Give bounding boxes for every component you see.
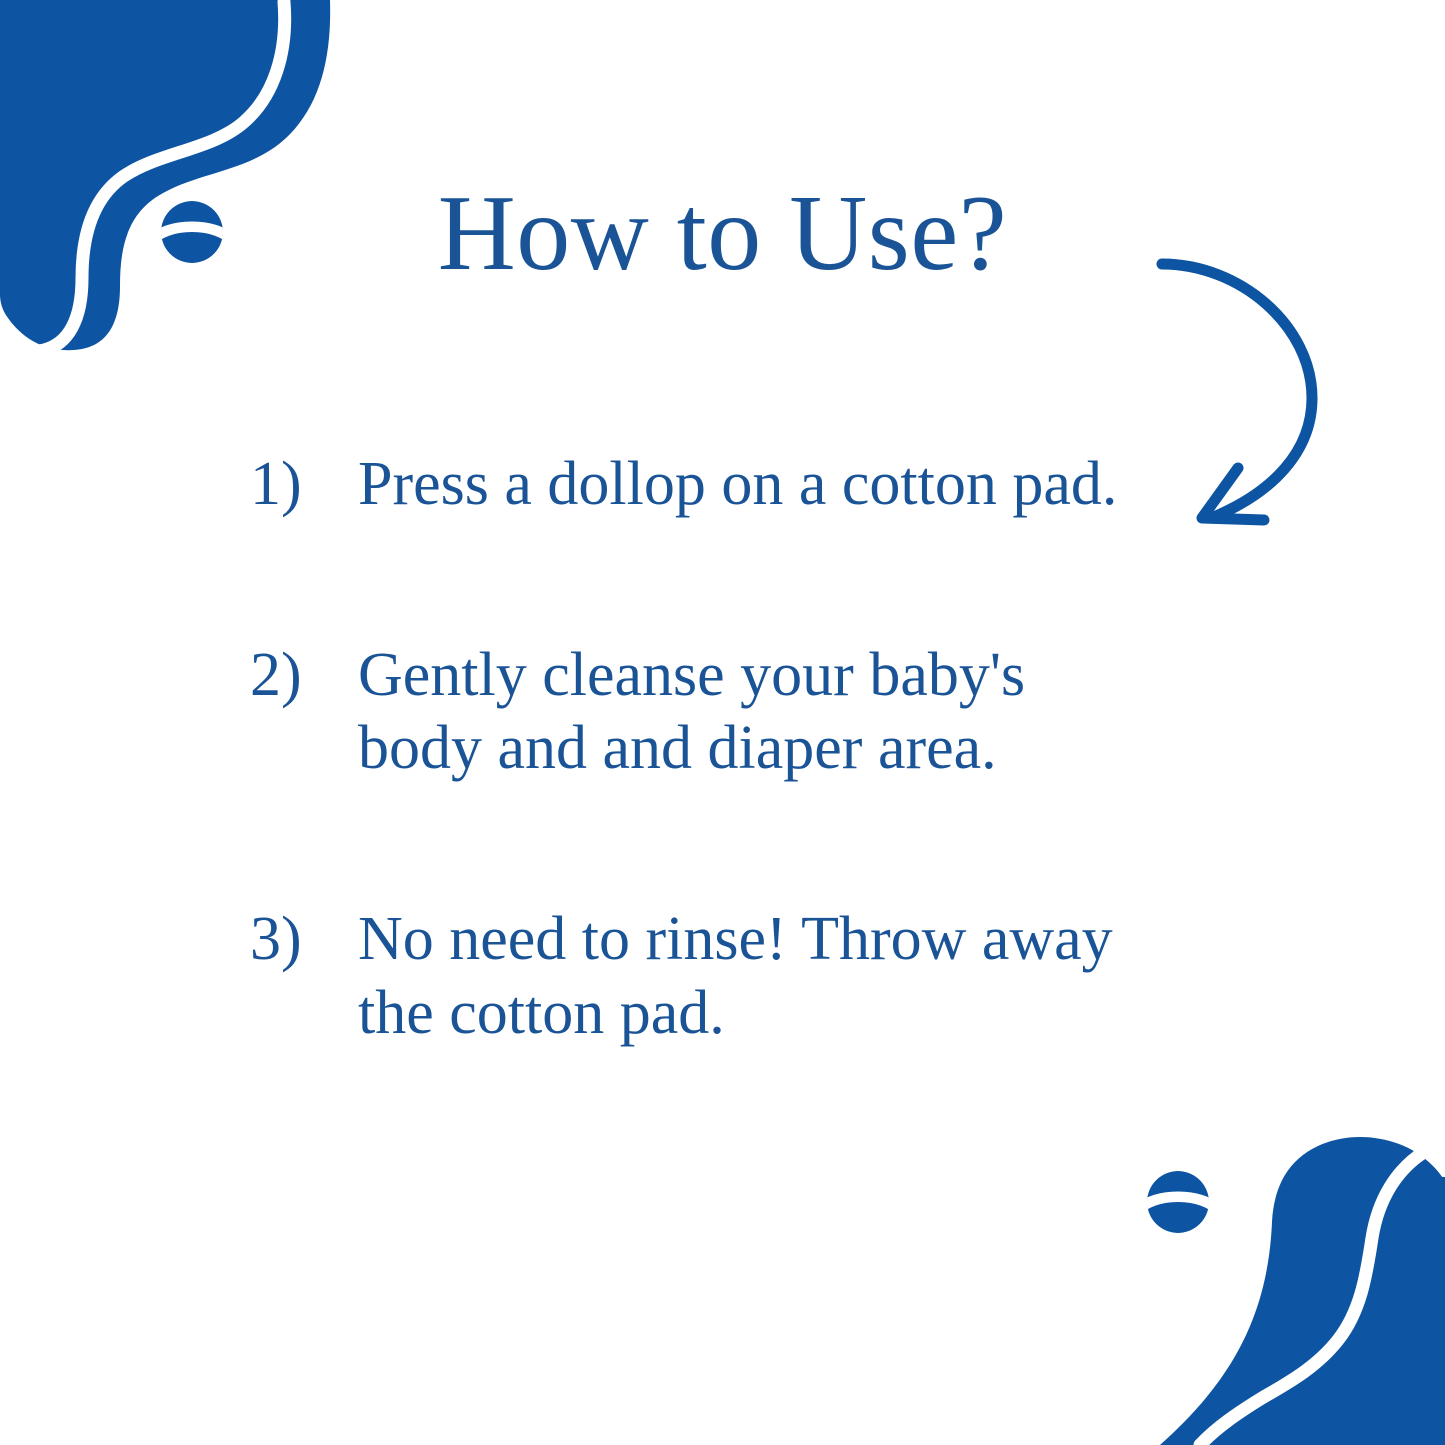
steps-list: 1) Press a dollop on a cotton pad. 2) Ge… [250,448,1200,1050]
dollop-drop-icon [1144,1168,1212,1236]
list-item: 1) Press a dollop on a cotton pad. [250,448,1200,521]
top-left-blob-icon [0,0,330,352]
list-item: 2) Gently cleanse your baby's body and a… [250,639,1200,785]
step-text: Gently cleanse your baby's body and and … [358,639,1148,785]
list-item: 3) No need to rinse! Throw away the cott… [250,903,1200,1049]
step-number: 2) [250,639,358,712]
step-number: 1) [250,448,358,521]
step-number: 3) [250,903,358,976]
how-to-use-card: How to Use? 1) Press a dollop on a cotto… [0,0,1445,1445]
step-text: Press a dollop on a cotton pad. [358,448,1148,521]
step-text: No need to rinse! Throw away the cotton … [358,903,1148,1049]
